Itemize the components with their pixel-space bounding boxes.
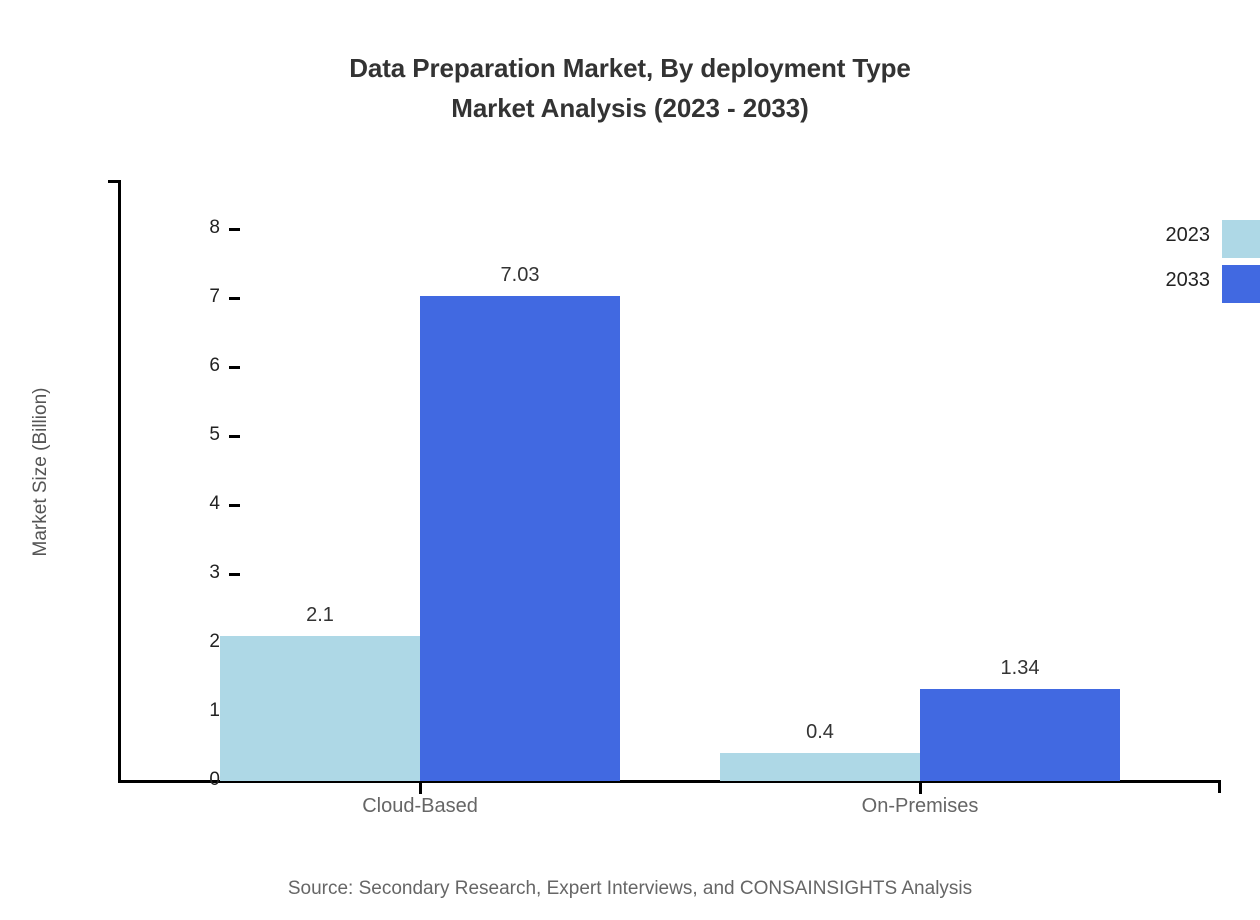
legend-swatch-2023 — [1222, 220, 1260, 258]
chart-title: Data Preparation Market, By deployment T… — [0, 48, 1260, 128]
x-tick-mark-cloud-based — [419, 781, 422, 794]
x-tick-label-on-premises: On-Premises — [760, 795, 1080, 818]
bar-cloud-based-2023[interactable]: 2.1 — [220, 636, 420, 781]
legend-swatch-2033 — [1222, 265, 1260, 303]
bars-layer: 2.1 7.03 0.4 1.34 — [120, 180, 1220, 781]
legend-item-2033[interactable]: 2033 — [1110, 263, 1260, 308]
x-tick-label-cloud-based: Cloud-Based — [260, 795, 580, 818]
chart-title-line-2: Market Analysis (2023 - 2033) — [0, 88, 1260, 128]
legend-label-2033: 2033 — [1166, 269, 1211, 292]
chart-legend: 2023 2033 — [1110, 218, 1260, 308]
bar-on-premises-2023[interactable]: 0.4 — [720, 753, 920, 781]
bar-on-premises-2033[interactable]: 1.34 — [920, 689, 1120, 782]
legend-item-2023[interactable]: 2023 — [1110, 218, 1260, 263]
bar-cloud-based-2033[interactable]: 7.03 — [420, 296, 620, 781]
bar-label-on-premises-2033: 1.34 — [1001, 657, 1040, 680]
x-axis-end-cap — [1218, 780, 1221, 793]
bar-label-on-premises-2023: 0.4 — [806, 721, 834, 744]
legend-label-2023: 2023 — [1166, 224, 1211, 247]
chart-title-line-1: Data Preparation Market, By deployment T… — [0, 48, 1260, 88]
x-tick-mark-on-premises — [919, 781, 922, 794]
source-note: Source: Secondary Research, Expert Inter… — [0, 878, 1260, 900]
bar-label-cloud-based-2023: 2.1 — [306, 604, 334, 627]
bar-label-cloud-based-2033: 7.03 — [501, 264, 540, 287]
y-axis-title: Market Size (Billion) — [30, 332, 52, 612]
chart-figure: Data Preparation Market, By deployment T… — [0, 0, 1260, 920]
